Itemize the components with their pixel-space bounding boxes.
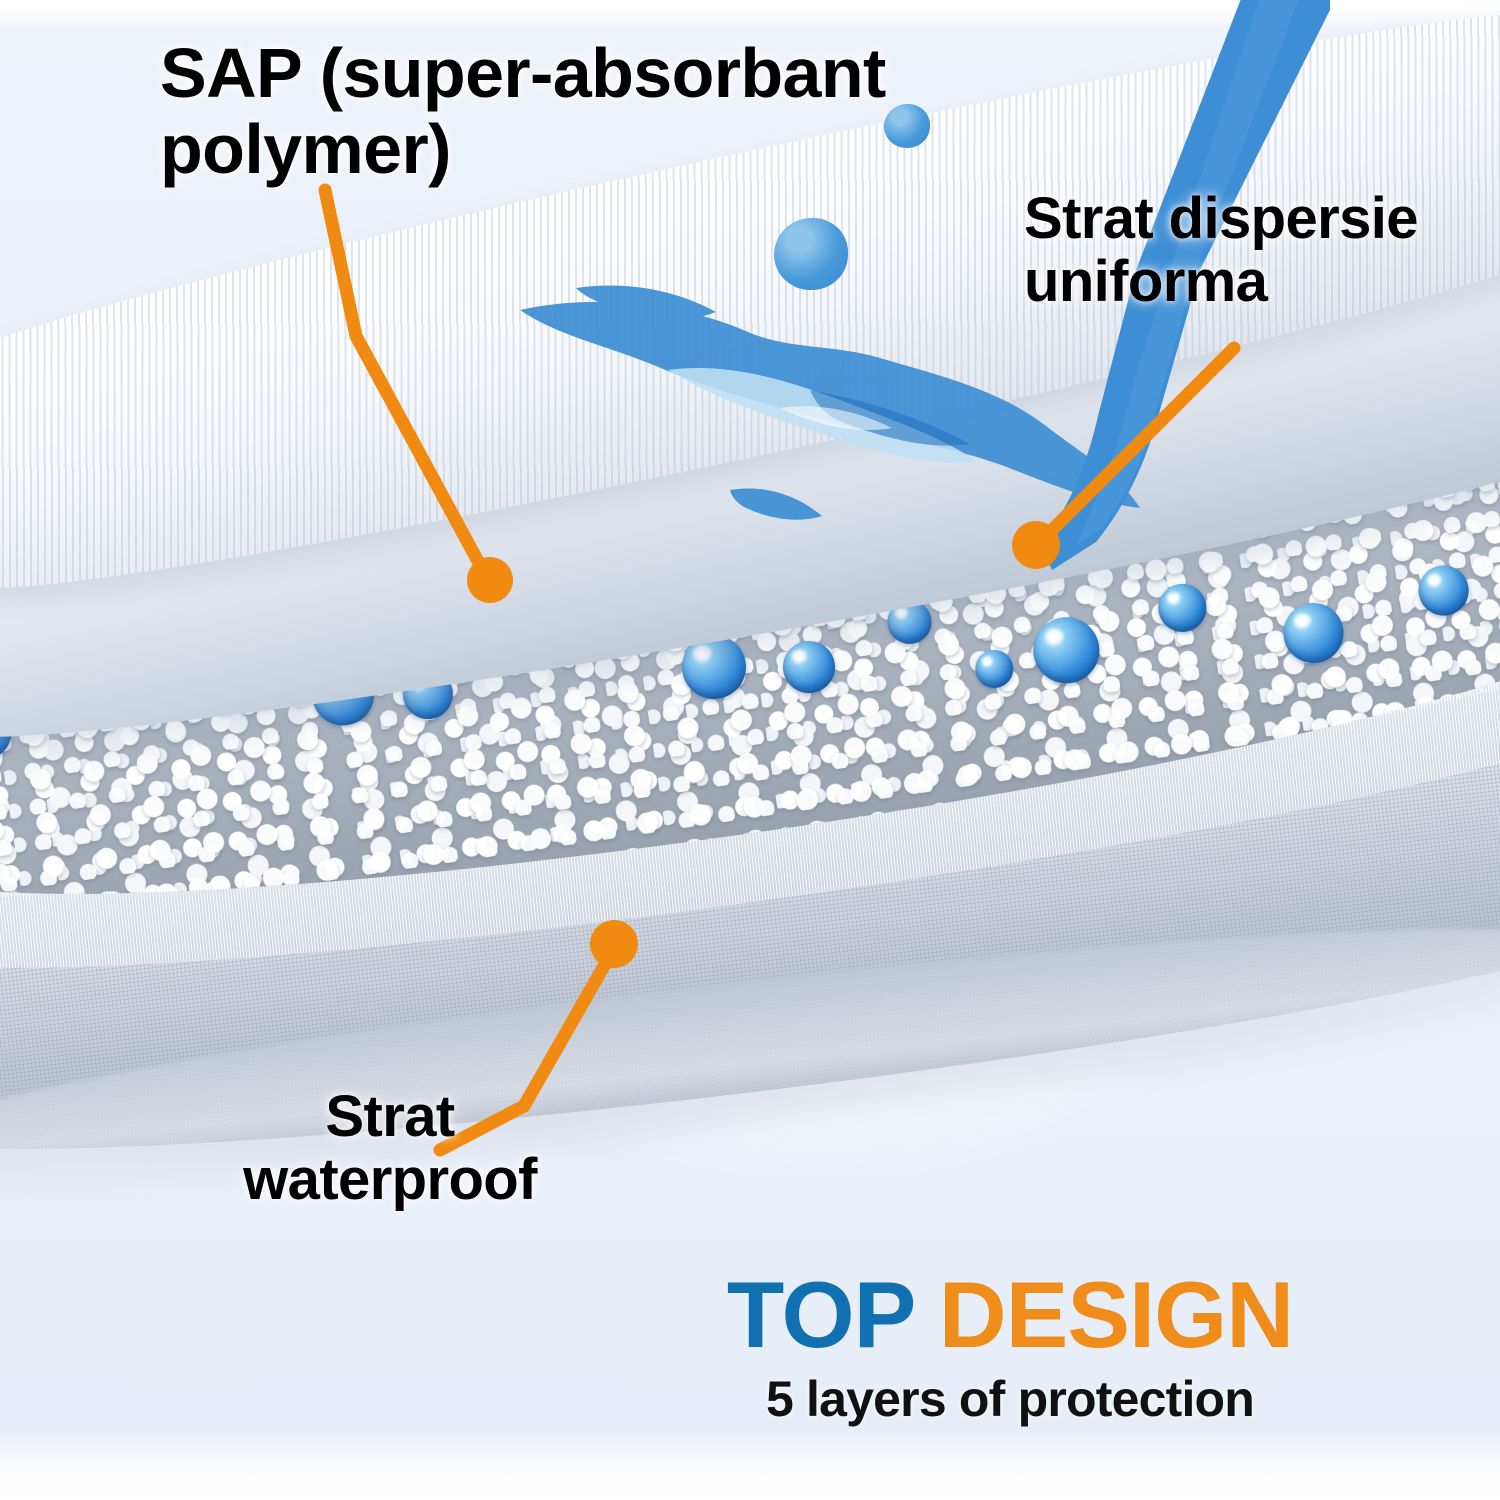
brand-subtitle: 5 layers of protection bbox=[640, 1370, 1380, 1428]
product-infographic: SAP (super-absorbant polymer) Strat disp… bbox=[0, 0, 1500, 1500]
callout-label-sap: SAP (super-absorbant polymer) bbox=[160, 36, 900, 187]
brand-title: TOP DESIGN bbox=[640, 1268, 1380, 1362]
brand-title-top: TOP bbox=[727, 1262, 914, 1367]
callout-label-waterproof: Strat waterproof bbox=[190, 1086, 590, 1211]
liquid-droplet-large bbox=[774, 218, 848, 290]
brand-title-design: DESIGN bbox=[939, 1262, 1293, 1367]
brand-lockup: TOP DESIGN 5 layers of protection bbox=[640, 1268, 1380, 1428]
callout-label-dispersion: Strat dispersie uniforma bbox=[1024, 188, 1494, 313]
